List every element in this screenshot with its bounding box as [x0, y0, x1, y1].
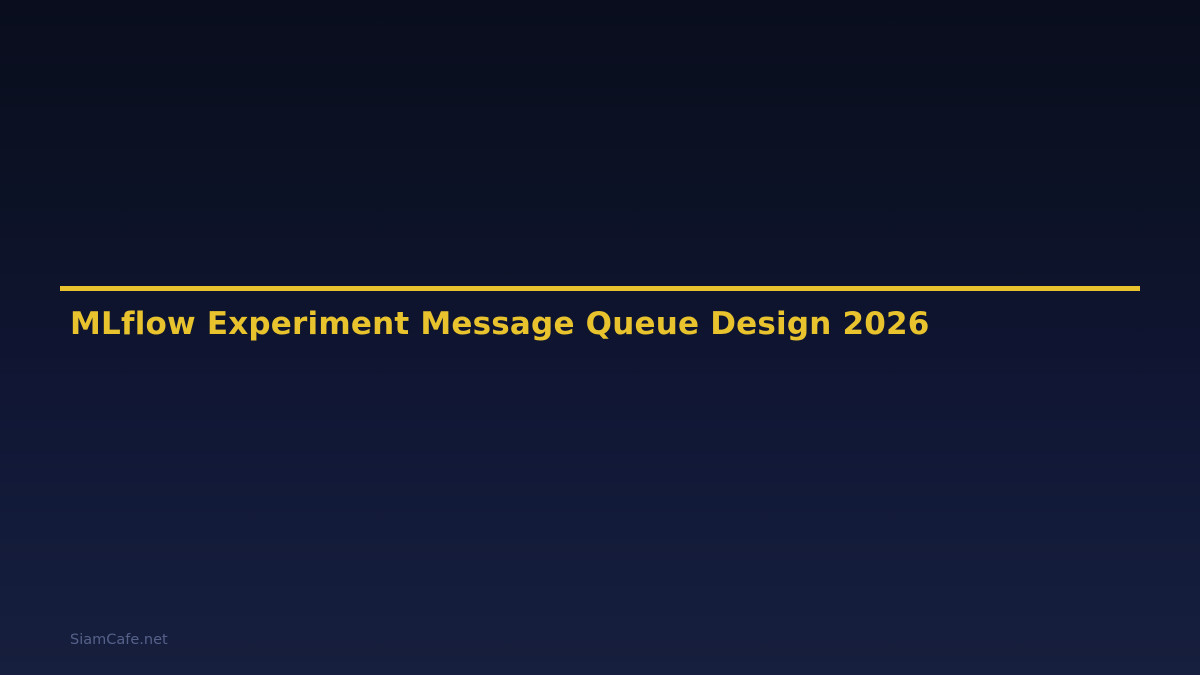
slide-title: MLflow Experiment Message Queue Design 2…: [70, 306, 930, 342]
presentation-slide: MLflow Experiment Message Queue Design 2…: [0, 0, 1200, 675]
footer-source-label: SiamCafe.net: [70, 630, 168, 650]
title-accent-rule: [60, 286, 1140, 291]
